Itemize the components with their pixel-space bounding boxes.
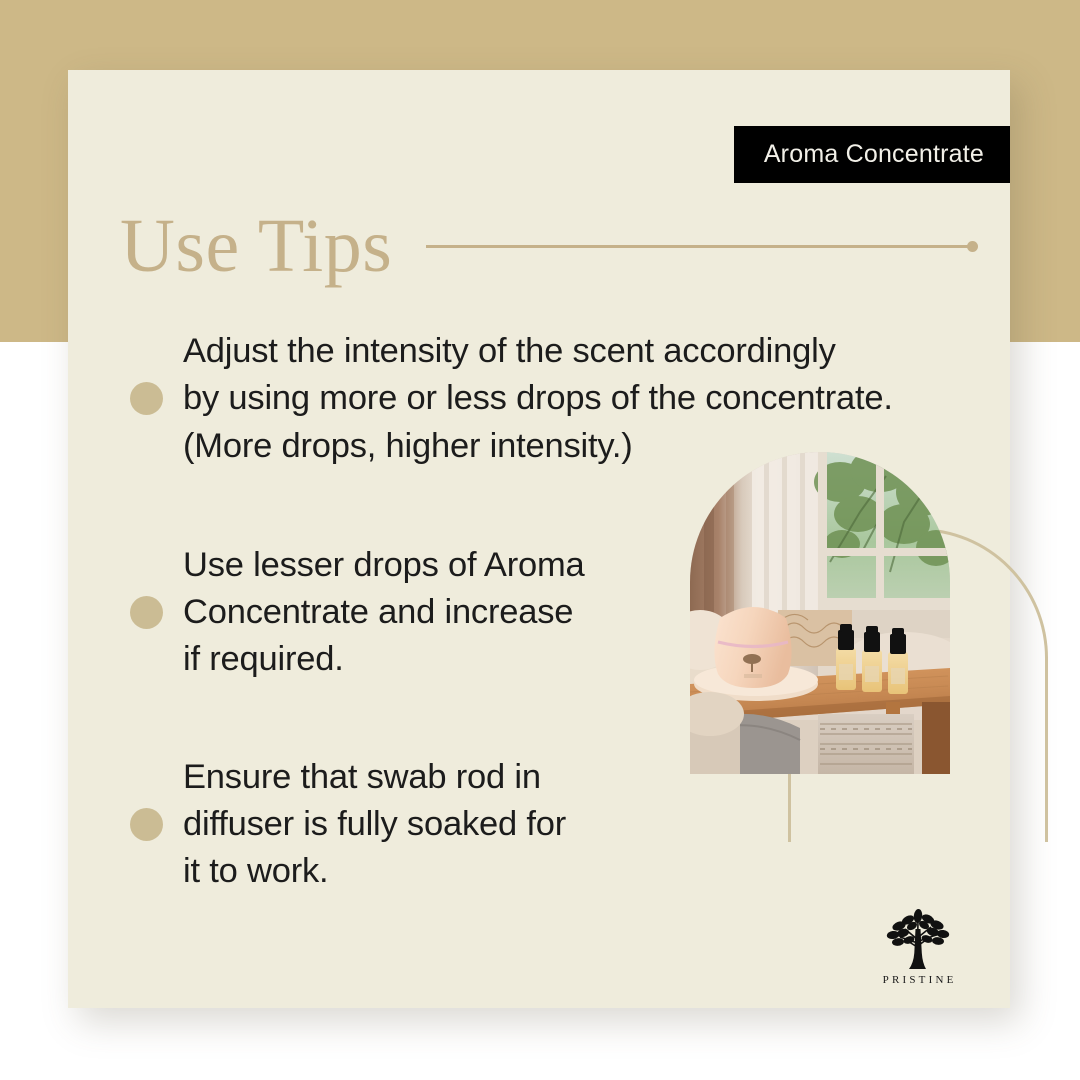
title-divider-dot: [967, 241, 978, 252]
tip-line: Concentrate and increase: [183, 589, 585, 636]
title-divider: [426, 241, 978, 251]
bullet-dot-icon: [130, 808, 163, 841]
poster-canvas: Aroma Concentrate Use Tips Adjust the in…: [0, 0, 1080, 1080]
title-row: Use Tips: [120, 196, 978, 296]
category-badge-label: Aroma Concentrate: [764, 140, 984, 169]
tip-line: Use lesser drops of Aroma: [183, 542, 585, 589]
content-card: Aroma Concentrate Use Tips Adjust the in…: [68, 70, 1010, 1008]
page-title: Use Tips: [120, 208, 392, 284]
tip-line: by using more or less drops of the conce…: [183, 375, 893, 422]
bullet-dot-icon: [130, 596, 163, 629]
product-photo-illustration: [690, 452, 950, 774]
tip-line: Ensure that swab rod in: [183, 754, 566, 801]
tip-line: diffuser is fully soaked for: [183, 801, 566, 848]
tip-line: it to work.: [183, 848, 566, 895]
brand-wordmark: PRISTINE: [866, 974, 970, 986]
product-photo: [690, 452, 950, 774]
tip-text-intensity: Adjust the intensity of the scent accord…: [183, 328, 893, 470]
list-item: Adjust the intensity of the scent accord…: [130, 328, 1010, 470]
tip-line: Adjust the intensity of the scent accord…: [183, 328, 893, 375]
category-badge: Aroma Concentrate: [734, 126, 1010, 183]
tip-line: if required.: [183, 636, 585, 683]
tip-text-lesser-drops: Use lesser drops of Aroma Concentrate an…: [183, 542, 585, 684]
title-divider-line: [426, 245, 968, 248]
bullet-dot-icon: [130, 382, 163, 415]
tree-icon: [881, 909, 955, 971]
brand-logo: PRISTINE: [866, 909, 970, 986]
tip-text-swab-rod: Ensure that swab rod in diffuser is full…: [183, 754, 566, 896]
